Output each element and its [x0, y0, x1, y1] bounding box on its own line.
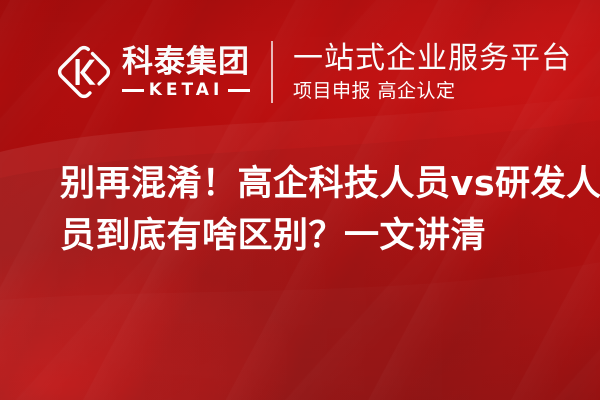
ketai-diamond-kt-monogram-icon — [56, 43, 112, 101]
headline-line-2: 员到底有啥区别？一文讲清 — [60, 210, 580, 262]
brand-name-english-row: KETAI — [122, 81, 250, 99]
headline-block: 别再混淆！高企科技人员vs研发人 员到底有啥区别？一文讲清 — [60, 158, 580, 262]
brand-slogan: 一站式企业服务平台 项目申报 高企认定 — [293, 42, 572, 103]
wordmark-rule-right — [228, 89, 250, 92]
slogan-secondary: 项目申报 高企认定 — [293, 79, 572, 103]
banner-header: 科泰集团 KETAI 一站式企业服务平台 项目申报 高企认定 — [0, 34, 600, 110]
headline-line-1: 别再混淆！高企科技人员vs研发人 — [60, 158, 580, 210]
wordmark-rule-left — [122, 89, 144, 92]
brand-logo: 科泰集团 KETAI — [56, 43, 250, 101]
header-vertical-divider — [271, 41, 273, 103]
promo-banner: 科泰集团 KETAI 一站式企业服务平台 项目申报 高企认定 别再混淆！高企科技… — [0, 0, 600, 400]
brand-name-chinese: 科泰集团 — [122, 45, 250, 79]
slogan-primary: 一站式企业服务平台 — [293, 42, 572, 76]
brand-name-english: KETAI — [149, 81, 224, 99]
brand-logo-wordmark: 科泰集团 KETAI — [122, 45, 250, 99]
